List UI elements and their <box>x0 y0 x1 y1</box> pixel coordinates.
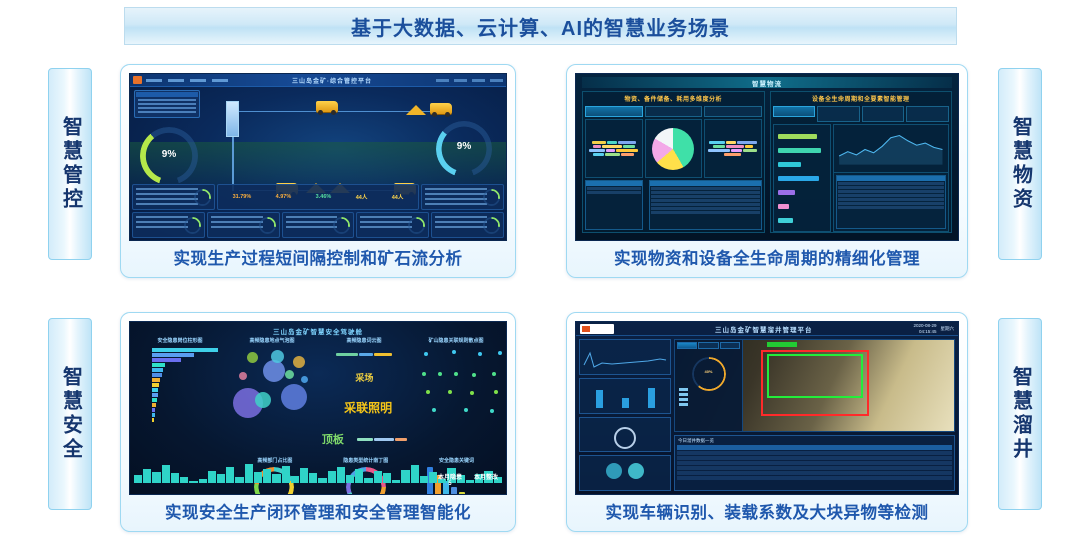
table-parts-consumption[interactable] <box>649 180 762 230</box>
line-chart-svg <box>837 128 945 165</box>
materials-tabs <box>583 104 764 119</box>
kpi-card[interactable] <box>132 184 215 210</box>
progress-ring-icon <box>259 217 276 234</box>
panel-title-2: 高频隐患词云图 <box>318 337 410 344</box>
video-tabs <box>675 340 742 351</box>
ringchart-panel <box>579 417 671 453</box>
table-row[interactable] <box>677 451 952 455</box>
wordcloud-word-2: 顶板 <box>322 431 356 447</box>
page-title-banner: 基于大数据、云计算、AI的智慧业务场景 <box>124 7 957 45</box>
pie-indicator-icon <box>606 463 622 479</box>
dashboard1-kpi-cards: 31.79% 4.97% 3.46% 44人 44人 <box>132 184 504 238</box>
wordcloud-tags <box>707 122 759 175</box>
kpi-card[interactable] <box>421 184 504 210</box>
panel-title-3: 矿山隐患关联规则散点图 <box>410 337 502 344</box>
kpi-value-0: 31.79% <box>233 194 252 200</box>
linechart-panel <box>579 339 671 375</box>
dashboard1-topbar: 三山岛金矿·综合管控平台 <box>130 74 506 87</box>
section-right-title: 设备全生命周期和全要素智能管理 <box>771 92 952 104</box>
kpi-card[interactable] <box>356 212 429 238</box>
panel-title-1: 高频隐患地点气泡图 <box>226 337 318 344</box>
kpi-value-1: 4.97% <box>276 194 292 200</box>
table-material-detail[interactable] <box>585 180 643 230</box>
dashboard3-row1: 采场 采联照明 顶板 <box>130 344 506 456</box>
scatterchart-hazard-rules <box>412 346 502 454</box>
bubblechart-hazard-locations <box>227 346 317 454</box>
dashboard1-title: 三山岛金矿·综合管控平台 <box>292 76 372 85</box>
table-header-row <box>677 445 952 450</box>
video-feed-panel[interactable]: 40% <box>674 339 955 432</box>
daily-report-panel <box>134 90 200 118</box>
card-caption: 实现车辆识别、装载系数及大块异物等检测 <box>575 499 959 523</box>
shaft-line <box>232 137 234 191</box>
dashboard4-topbar: 三山岛金矿智慧溜井管理平台 2020-08-29 04:15:45 星期六 <box>576 322 958 336</box>
kpi-label: 本月整改 <box>474 472 498 481</box>
company-logo-icon <box>133 76 142 84</box>
panel-caption <box>580 340 670 347</box>
section-left-title: 物资、备件储备、耗用多维度分析 <box>583 92 764 104</box>
ore-pile-icon <box>406 105 426 115</box>
progress-ring-icon <box>408 217 425 234</box>
side-label-text: 智慧安全 <box>58 366 83 462</box>
line-chart-svg <box>580 347 670 373</box>
panel-caption <box>580 456 670 463</box>
panel-caption <box>580 418 670 425</box>
kpi-row-top: 31.79% 4.97% 3.46% 44人 44人 <box>132 184 504 210</box>
kpi-summary-bar: 31.79% 4.97% 3.46% 44人 44人 <box>217 184 418 210</box>
conveyor-line-1 <box>239 111 321 112</box>
card-caption: 实现安全生产闭环管理和安全管理智能化 <box>129 499 507 523</box>
left-gauge-value: 9% <box>140 149 198 160</box>
kpi-value: 5 <box>438 481 462 487</box>
wordcloud-word-1: 采联照明 <box>337 399 393 416</box>
kpi-card[interactable] <box>207 212 280 238</box>
scenario-card-smart-safety[interactable]: 三山岛金矿智慧安全驾驶舱 安全隐患岗位柱形图 高频隐患地点气泡图 高频隐患词云图… <box>120 312 516 532</box>
kpi-card[interactable] <box>132 212 205 238</box>
dashboard1-nav-right <box>436 79 503 82</box>
table-row[interactable] <box>677 471 952 475</box>
linechart-equipment-trend <box>834 125 948 173</box>
dashboard4-left-column <box>579 339 671 491</box>
materials-panels <box>583 119 764 178</box>
hoist-shaft-icon <box>226 101 239 137</box>
ring-indicator-icon <box>614 427 636 449</box>
barchart-panel <box>579 378 671 414</box>
company-logo-icon <box>580 324 614 334</box>
wordcloud-content: 采场 采联照明 顶板 <box>320 346 410 454</box>
dashboard4-body: 40% 今日溜井数据一览 <box>576 336 958 494</box>
tab-playback[interactable] <box>698 342 718 349</box>
dashboard1-nav <box>146 79 228 82</box>
stat-total-equipment <box>817 106 860 122</box>
side-label-text: 智慧管控 <box>58 116 83 212</box>
weekday-text: 星期六 <box>941 326 955 332</box>
date-text: 2020-08-29 <box>913 323 936 329</box>
tab-spare-parts[interactable] <box>704 106 762 117</box>
stat-idle <box>906 106 949 122</box>
horizontal-bars <box>778 129 827 227</box>
wordcloud-tags <box>588 122 640 175</box>
dashboard3-title: 三山岛金矿智慧安全驾驶舱 <box>130 322 506 337</box>
stat-in-use <box>862 106 905 122</box>
table-row[interactable] <box>677 456 952 460</box>
table-row[interactable] <box>677 476 952 480</box>
card-caption: 实现物资和设备全生命周期的精细化管理 <box>575 245 959 269</box>
tab-alarm-video[interactable] <box>720 342 740 349</box>
scenario-card-smart-control[interactable]: 三山岛金矿·综合管控平台 9% 9% <box>120 64 516 278</box>
load-rate-ring <box>692 357 726 391</box>
tab-equipment-overview[interactable] <box>773 106 816 117</box>
side-label-text: 智慧溜井 <box>1008 366 1033 462</box>
equipment-lifecycle-section: 设备全生命周期和全要素智能管理 <box>770 91 953 233</box>
progress-ring-icon <box>483 189 500 206</box>
kpi-value-3: 44人 <box>356 193 368 201</box>
side-label-bottom-right: 智慧溜井 <box>998 318 1042 510</box>
timeline-hazard-bars: 本月隐患 5 本月整改 <box>134 457 502 491</box>
dashboard4-title: 三山岛金矿智慧溜井管理平台 <box>614 324 913 334</box>
kpi-value-4: 44人 <box>392 193 404 201</box>
side-label-bottom-left: 智慧安全 <box>48 318 92 510</box>
table-equipment-ledger[interactable] <box>836 175 946 229</box>
scenario-card-smart-materials[interactable]: 智慧物流 物资、备件储备、耗用多维度分析 <box>566 64 968 278</box>
wordcloud-word-0: 采场 <box>320 371 410 384</box>
dashboard-screenshot-orepass: 三山岛金矿智慧溜井管理平台 2020-08-29 04:15:45 星期六 <box>575 321 959 495</box>
side-label-text: 智慧物资 <box>1008 116 1033 212</box>
wordcloud-material-category <box>585 119 643 178</box>
weekday-display: 星期六 <box>941 326 955 332</box>
orepass-data-table[interactable]: 今日溜井数据一览 <box>674 435 955 491</box>
side-label-top-right: 智慧物资 <box>998 68 1042 260</box>
scenario-card-smart-orepass[interactable]: 三山岛金矿智慧溜井管理平台 2020-08-29 04:15:45 星期六 <box>566 312 968 532</box>
card-caption: 实现生产过程短间隔控制和矿石流分析 <box>129 245 507 269</box>
gauge-panel <box>579 455 671 491</box>
kpi-value-2: 3.46% <box>316 194 332 200</box>
haul-truck-icon <box>430 103 452 114</box>
progress-ring-icon <box>194 189 211 206</box>
dashboard-screenshot-smart-logistics: 智慧物流 物资、备件储备、耗用多维度分析 <box>575 73 959 241</box>
equipment-panels <box>771 124 952 232</box>
load-detection-box <box>767 354 863 398</box>
dashboard-screenshot-mining-control: 三山岛金矿·综合管控平台 9% 9% <box>129 73 507 241</box>
right-gauge-value: 9% <box>436 141 492 152</box>
kpi-card[interactable] <box>431 212 504 238</box>
table-row[interactable] <box>677 461 952 465</box>
dashboard-screenshot-safety-cockpit: 三山岛金矿智慧安全驾驶舱 安全隐患岗位柱形图 高频隐患地点气泡图 高频隐患词云图… <box>129 321 507 495</box>
video-sidebar: 40% <box>675 340 743 431</box>
tab-material-reserve[interactable] <box>585 106 643 117</box>
barchart-hazard-by-position <box>134 346 224 454</box>
progress-ring-icon <box>333 217 350 234</box>
kpi-card[interactable] <box>282 212 355 238</box>
time-text: 04:15:45 <box>913 329 936 335</box>
wordcloud-spare-parts <box>704 119 762 178</box>
haul-truck-icon <box>316 101 338 112</box>
monthly-kpi-group: 本月隐患 5 本月整改 <box>438 472 498 487</box>
table-row[interactable] <box>677 466 952 470</box>
pie-chart <box>652 128 694 170</box>
wordcloud-hazard-terms: 采场 采联照明 顶板 <box>320 346 410 454</box>
pie-indicator-icon <box>628 463 644 479</box>
table-title: 今日溜井数据一览 <box>675 436 954 445</box>
equipment-right-panels <box>833 124 949 232</box>
tab-live-video[interactable] <box>677 342 697 349</box>
pie-material-proportion <box>645 119 703 178</box>
barchart-equipment-type <box>773 124 832 232</box>
dashboard1-body: 9% 9% 31.79% <box>130 87 506 240</box>
materials-analysis-section: 物资、备件储备、耗用多维度分析 <box>582 91 765 233</box>
equipment-stats <box>771 104 952 124</box>
side-label-top-left: 智慧管控 <box>48 68 92 260</box>
kpi-row-bottom <box>132 212 504 238</box>
dashboard3-panel-titles-row1: 安全隐患岗位柱形图 高频隐患地点气泡图 高频隐患词云图 矿山隐患关联规则散点图 <box>130 337 506 344</box>
datetime-display: 2020-08-29 04:15:45 <box>913 323 936 334</box>
kpi-label: 本月隐患 <box>438 472 462 481</box>
progress-ring-icon <box>483 217 500 234</box>
tab-material-consumption[interactable] <box>645 106 703 117</box>
kpi-monthly-hazards: 本月隐患 5 <box>438 472 462 487</box>
dashboard4-right-column: 40% 今日溜井数据一览 <box>674 339 955 491</box>
dashboard2-title: 智慧物流 <box>582 77 952 88</box>
dashboard2-columns: 物资、备件储备、耗用多维度分析 <box>576 88 958 238</box>
detection-label-tag <box>767 342 797 347</box>
page-title: 基于大数据、云计算、AI的智慧业务场景 <box>351 12 730 41</box>
kpi-monthly-rectified: 本月整改 <box>474 472 498 487</box>
progress-ring-icon <box>184 217 201 234</box>
panel-title-0: 安全隐患岗位柱形图 <box>134 337 226 344</box>
panel-caption <box>580 379 670 386</box>
